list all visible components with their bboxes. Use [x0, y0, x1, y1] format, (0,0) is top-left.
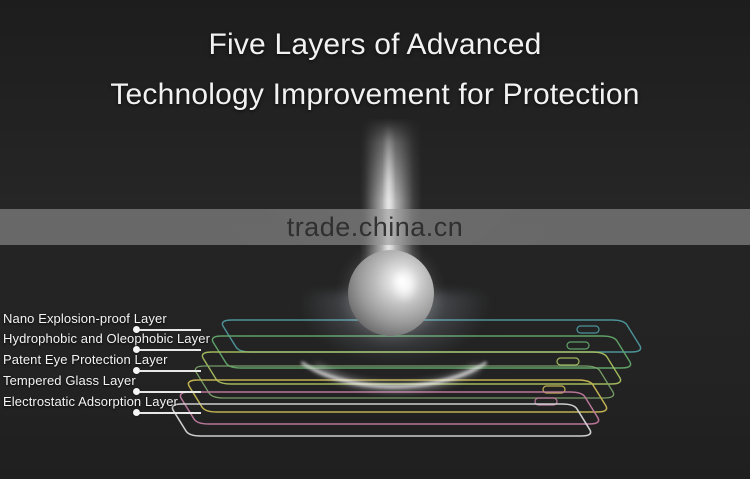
layer-leader-3-line: [139, 370, 201, 372]
steel-ball-specular-highlight: [392, 268, 418, 302]
title-line-2: Technology Improvement for Protection: [0, 70, 750, 120]
layer-label-3: Patent Eye Protection Layer: [3, 352, 168, 367]
layer-label-2-text: Hydrophobic and Oleophobic Layer: [3, 331, 210, 346]
metal-shaft-highlight: [383, 125, 395, 270]
layer-label-3-text: Patent Eye Protection Layer: [3, 352, 168, 367]
layer-leader-5-line: [139, 412, 201, 414]
layer-label-1: Nano Explosion-proof Layer: [3, 311, 167, 326]
layer-leader-2-line: [139, 349, 201, 351]
steel-ball: [348, 250, 434, 336]
page-title: Five Layers of Advanced Technology Impro…: [0, 20, 750, 120]
layer-label-2: Hydrophobic and Oleophobic Layer: [3, 331, 210, 346]
layer-label-1-text: Nano Explosion-proof Layer: [3, 311, 167, 326]
layer-label-5-text: Electrostatic Adsorption Layer: [3, 394, 178, 409]
layer-label-4-text: Tempered Glass Layer: [3, 373, 136, 388]
promo-banner: Five Layers of Advanced Technology Impro…: [0, 0, 750, 479]
layer-label-5: Electrostatic Adsorption Layer: [3, 394, 178, 409]
layer-leader-4-line: [139, 391, 201, 393]
title-line-1: Five Layers of Advanced: [0, 20, 750, 70]
layer-label-4: Tempered Glass Layer: [3, 373, 136, 388]
watermark-text: trade.china.cn: [287, 212, 464, 243]
